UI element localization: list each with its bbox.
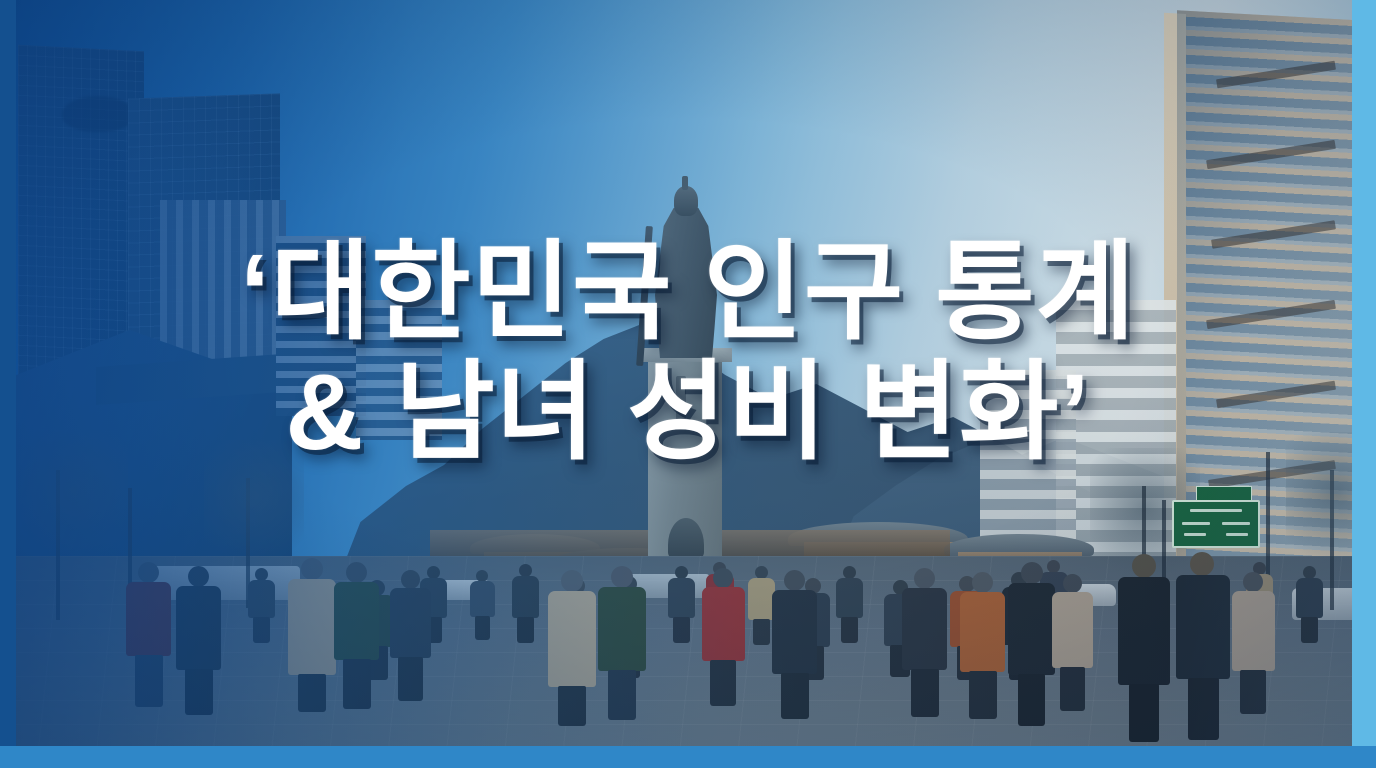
video-thumbnail: ‘대한민국 인구 통계 & 남녀 성비 변화’ [0, 0, 1376, 768]
statue-helmet-finial [682, 176, 688, 190]
statue-head [674, 186, 698, 216]
sign-text-line [1190, 509, 1242, 512]
yi-sun-sin-statue [655, 208, 717, 358]
green-direction-sign [1172, 500, 1260, 548]
sign-text-line [1222, 522, 1250, 525]
sign-text-line [1184, 533, 1206, 536]
midground-building-left-2 [356, 300, 442, 440]
building-logo [62, 96, 134, 132]
frame-border-left [0, 0, 16, 768]
pedestal-inscription [676, 376, 686, 424]
frame-border-bottom [0, 746, 1376, 768]
sign-text-line [1182, 522, 1210, 525]
background-photo [0, 0, 1376, 768]
midground-building-left [276, 236, 366, 416]
street-tree [18, 430, 128, 580]
street-tree [204, 440, 304, 580]
frame-border-right [1352, 0, 1376, 768]
sign-text-line [1226, 533, 1248, 536]
